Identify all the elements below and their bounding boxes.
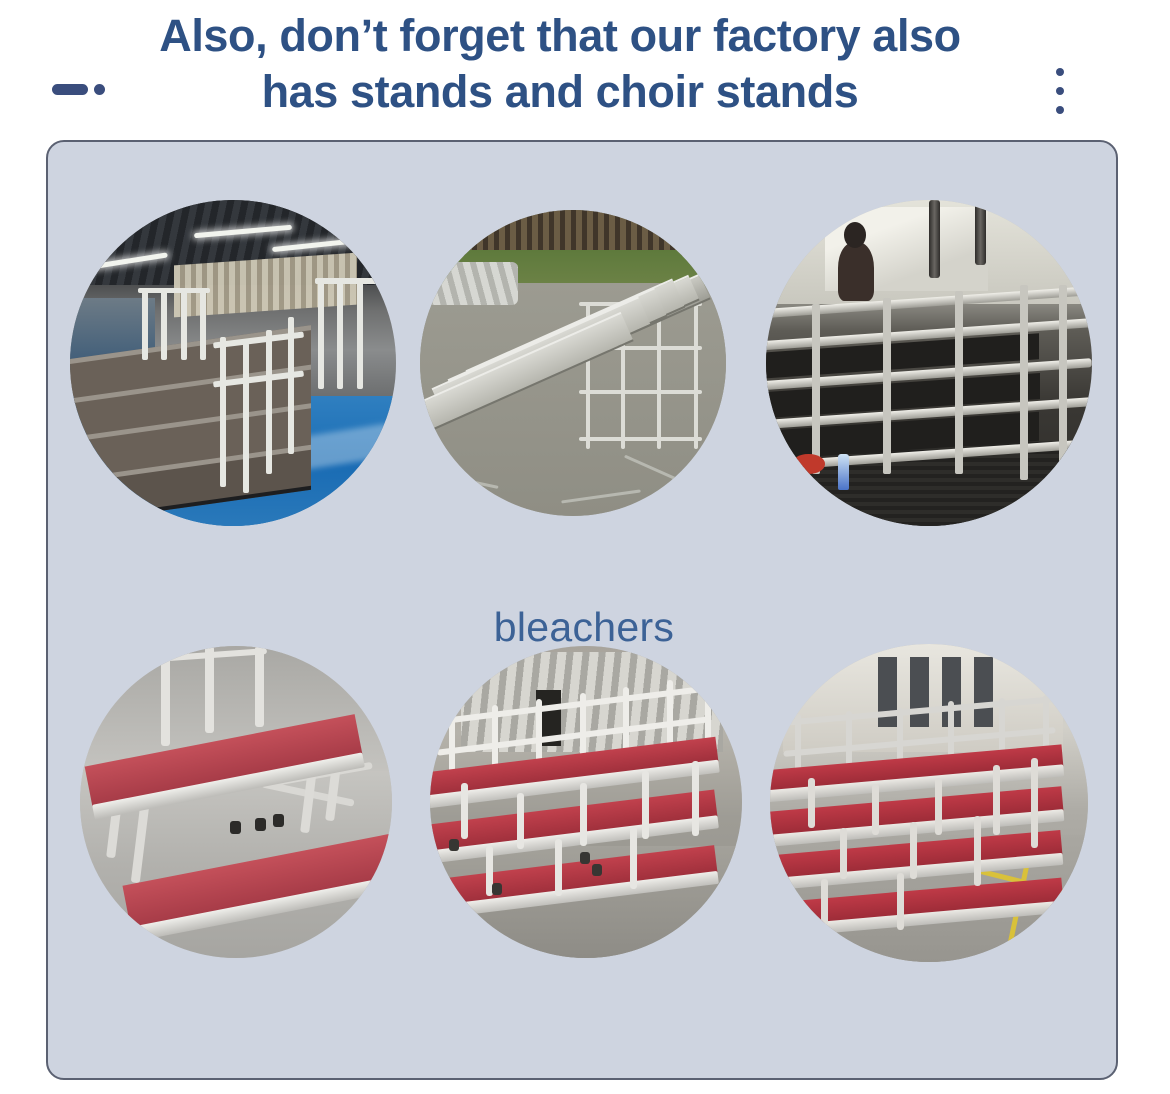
four-tier-choir-riser-outdoor-thumb[interactable] [770, 644, 1088, 962]
page-title-line-1: Also, don’t forget that our factory also [110, 8, 1010, 64]
stacked-aluminum-planks-outdoor-thumb[interactable] [420, 210, 726, 516]
indoor-bleacher-blue-floor-image [70, 200, 396, 526]
minus-dot [94, 84, 105, 95]
indoor-bleacher-blue-floor-thumb[interactable] [70, 200, 396, 526]
more-dot-2 [1056, 87, 1064, 95]
minus-bar [52, 84, 88, 95]
more-vertical-icon[interactable] [1053, 68, 1067, 114]
gallery-row-bleachers: bleachers [48, 200, 1118, 530]
product-gallery-page: Also, don’t forget that our factory also… [0, 0, 1170, 1094]
four-tier-choir-riser-outdoor-image [770, 644, 1088, 962]
page-header: Also, don’t forget that our factory also… [0, 0, 1170, 136]
bleacher-assembly-workshop-thumb[interactable] [766, 200, 1092, 526]
three-tier-choir-riser-warehouse-image [430, 646, 742, 958]
gallery-row-choir-stand: Choir stand [48, 640, 1118, 970]
page-title-line-2: has stands and choir stands [110, 64, 1010, 120]
stacked-aluminum-planks-outdoor-image [420, 210, 726, 516]
bleacher-assembly-workshop-image [766, 200, 1092, 526]
page-title: Also, don’t forget that our factory also… [110, 8, 1010, 120]
minus-dot-icon[interactable] [52, 80, 108, 98]
more-dot-1 [1056, 68, 1064, 76]
red-carpet-riser-closeup-image [80, 646, 392, 958]
more-dot-3 [1056, 106, 1064, 114]
gallery-card: bleachers [46, 140, 1118, 1080]
red-carpet-riser-closeup-thumb[interactable] [80, 646, 392, 958]
three-tier-choir-riser-warehouse-thumb[interactable] [430, 646, 742, 958]
